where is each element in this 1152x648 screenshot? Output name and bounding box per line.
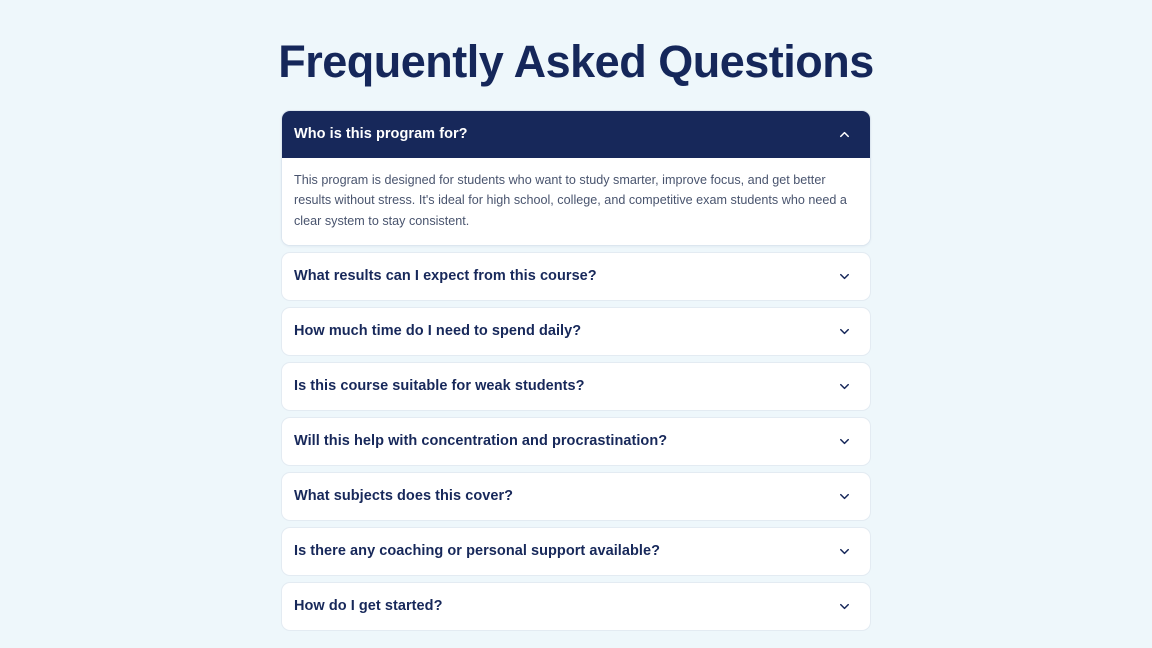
chevron-down-icon[interactable] [835, 487, 853, 505]
chevron-down-icon[interactable] [835, 432, 853, 450]
faq-question-label: Is there any coaching or personal suppor… [294, 543, 660, 560]
faq-question-header[interactable]: How do I get started? [282, 583, 870, 630]
faq-question-header[interactable]: What subjects does this cover? [282, 473, 870, 520]
faq-question-header[interactable]: Is there any coaching or personal suppor… [282, 528, 870, 575]
faq-accordion: Who is this program for? This program is… [281, 88, 871, 631]
faq-item: How do I get started? [281, 582, 871, 631]
faq-question-header[interactable]: How much time do I need to spend daily? [282, 308, 870, 355]
faq-answer-text: This program is designed for students wh… [294, 170, 855, 231]
faq-item: Will this help with concentration and pr… [281, 417, 871, 466]
faq-question-header[interactable]: Is this course suitable for weak student… [282, 363, 870, 410]
faq-item: What subjects does this cover? [281, 472, 871, 521]
faq-item: Who is this program for? This program is… [281, 110, 871, 246]
chevron-down-icon[interactable] [835, 597, 853, 615]
faq-question-label: Who is this program for? [294, 126, 468, 143]
faq-question-label: Will this help with concentration and pr… [294, 433, 667, 450]
faq-question-label: What subjects does this cover? [294, 488, 513, 505]
faq-question-label: What results can I expect from this cour… [294, 268, 597, 285]
faq-question-header[interactable]: Will this help with concentration and pr… [282, 418, 870, 465]
faq-question-header[interactable]: What results can I expect from this cour… [282, 253, 870, 300]
faq-question-label: Is this course suitable for weak student… [294, 378, 585, 395]
chevron-down-icon[interactable] [835, 267, 853, 285]
chevron-up-icon[interactable] [835, 125, 853, 143]
chevron-down-icon[interactable] [835, 542, 853, 560]
faq-item: What results can I expect from this cour… [281, 252, 871, 301]
chevron-down-icon[interactable] [835, 377, 853, 395]
faq-item: How much time do I need to spend daily? [281, 307, 871, 356]
faq-answer-panel: This program is designed for students wh… [282, 158, 870, 245]
chevron-down-icon[interactable] [835, 322, 853, 340]
page-title: Frequently Asked Questions [0, 0, 1152, 88]
faq-question-label: How do I get started? [294, 598, 442, 615]
faq-question-header[interactable]: Who is this program for? [282, 111, 870, 158]
faq-question-label: How much time do I need to spend daily? [294, 323, 581, 340]
faq-item: Is there any coaching or personal suppor… [281, 527, 871, 576]
faq-item: Is this course suitable for weak student… [281, 362, 871, 411]
faq-page: Frequently Asked Questions Who is this p… [0, 0, 1152, 648]
